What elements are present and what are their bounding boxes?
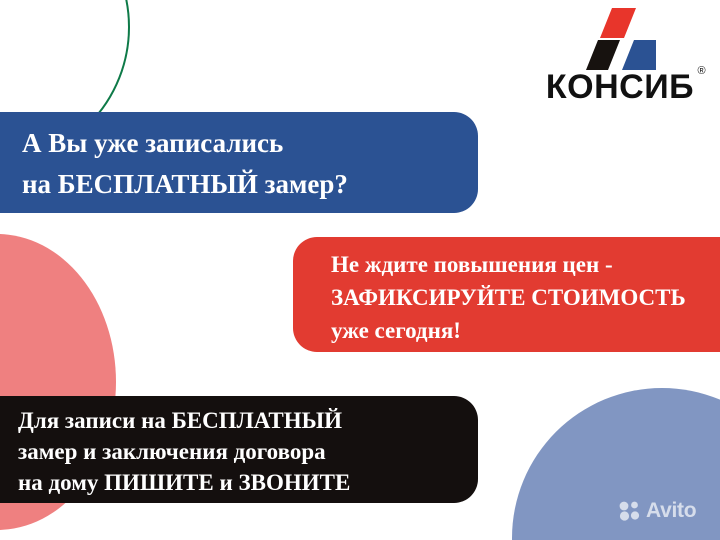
logo-wordmark: КОНСИБ ® — [546, 70, 694, 104]
headline-banner-blue: А Вы уже записались на БЕСПЛАТНЫЙ замер? — [0, 112, 478, 213]
avito-watermark-label: Avito — [646, 500, 696, 521]
logo-wordmark-text: КОНСИБ — [546, 68, 694, 106]
logo-mark-icon — [538, 8, 702, 70]
offer-red-line-2: ЗАФИКСИРУЙТЕ СТОИМОСТЬ — [331, 281, 720, 314]
brand-logo: КОНСИБ ® — [538, 8, 702, 104]
offer-red-line-3: уже сегодня! — [331, 314, 720, 347]
cta-banner-black: Для записи на БЕСПЛАТНЫЙ замер и заключе… — [0, 396, 478, 503]
poster-canvas: КОНСИБ ® А Вы уже записались на БЕСПЛАТН… — [0, 0, 720, 540]
offer-banner-red: Не ждите повышения цен - ЗАФИКСИРУЙТЕ СТ… — [293, 237, 720, 352]
headline-blue-line-2: на БЕСПЛАТНЫЙ замер? — [22, 164, 478, 205]
cta-black-line-3: на дому ПИШИТЕ и ЗВОНИТЕ — [18, 467, 478, 498]
avito-watermark: Avito — [619, 500, 696, 521]
headline-blue-line-1: А Вы уже записались — [22, 123, 478, 164]
registered-trademark-icon: ® — [697, 66, 706, 77]
cta-black-line-1: Для записи на БЕСПЛАТНЫЙ — [18, 405, 478, 436]
cta-black-line-2: замер и заключения договора — [18, 436, 478, 467]
avito-dots-icon — [619, 500, 641, 521]
offer-red-line-1: Не ждите повышения цен - — [331, 248, 720, 281]
